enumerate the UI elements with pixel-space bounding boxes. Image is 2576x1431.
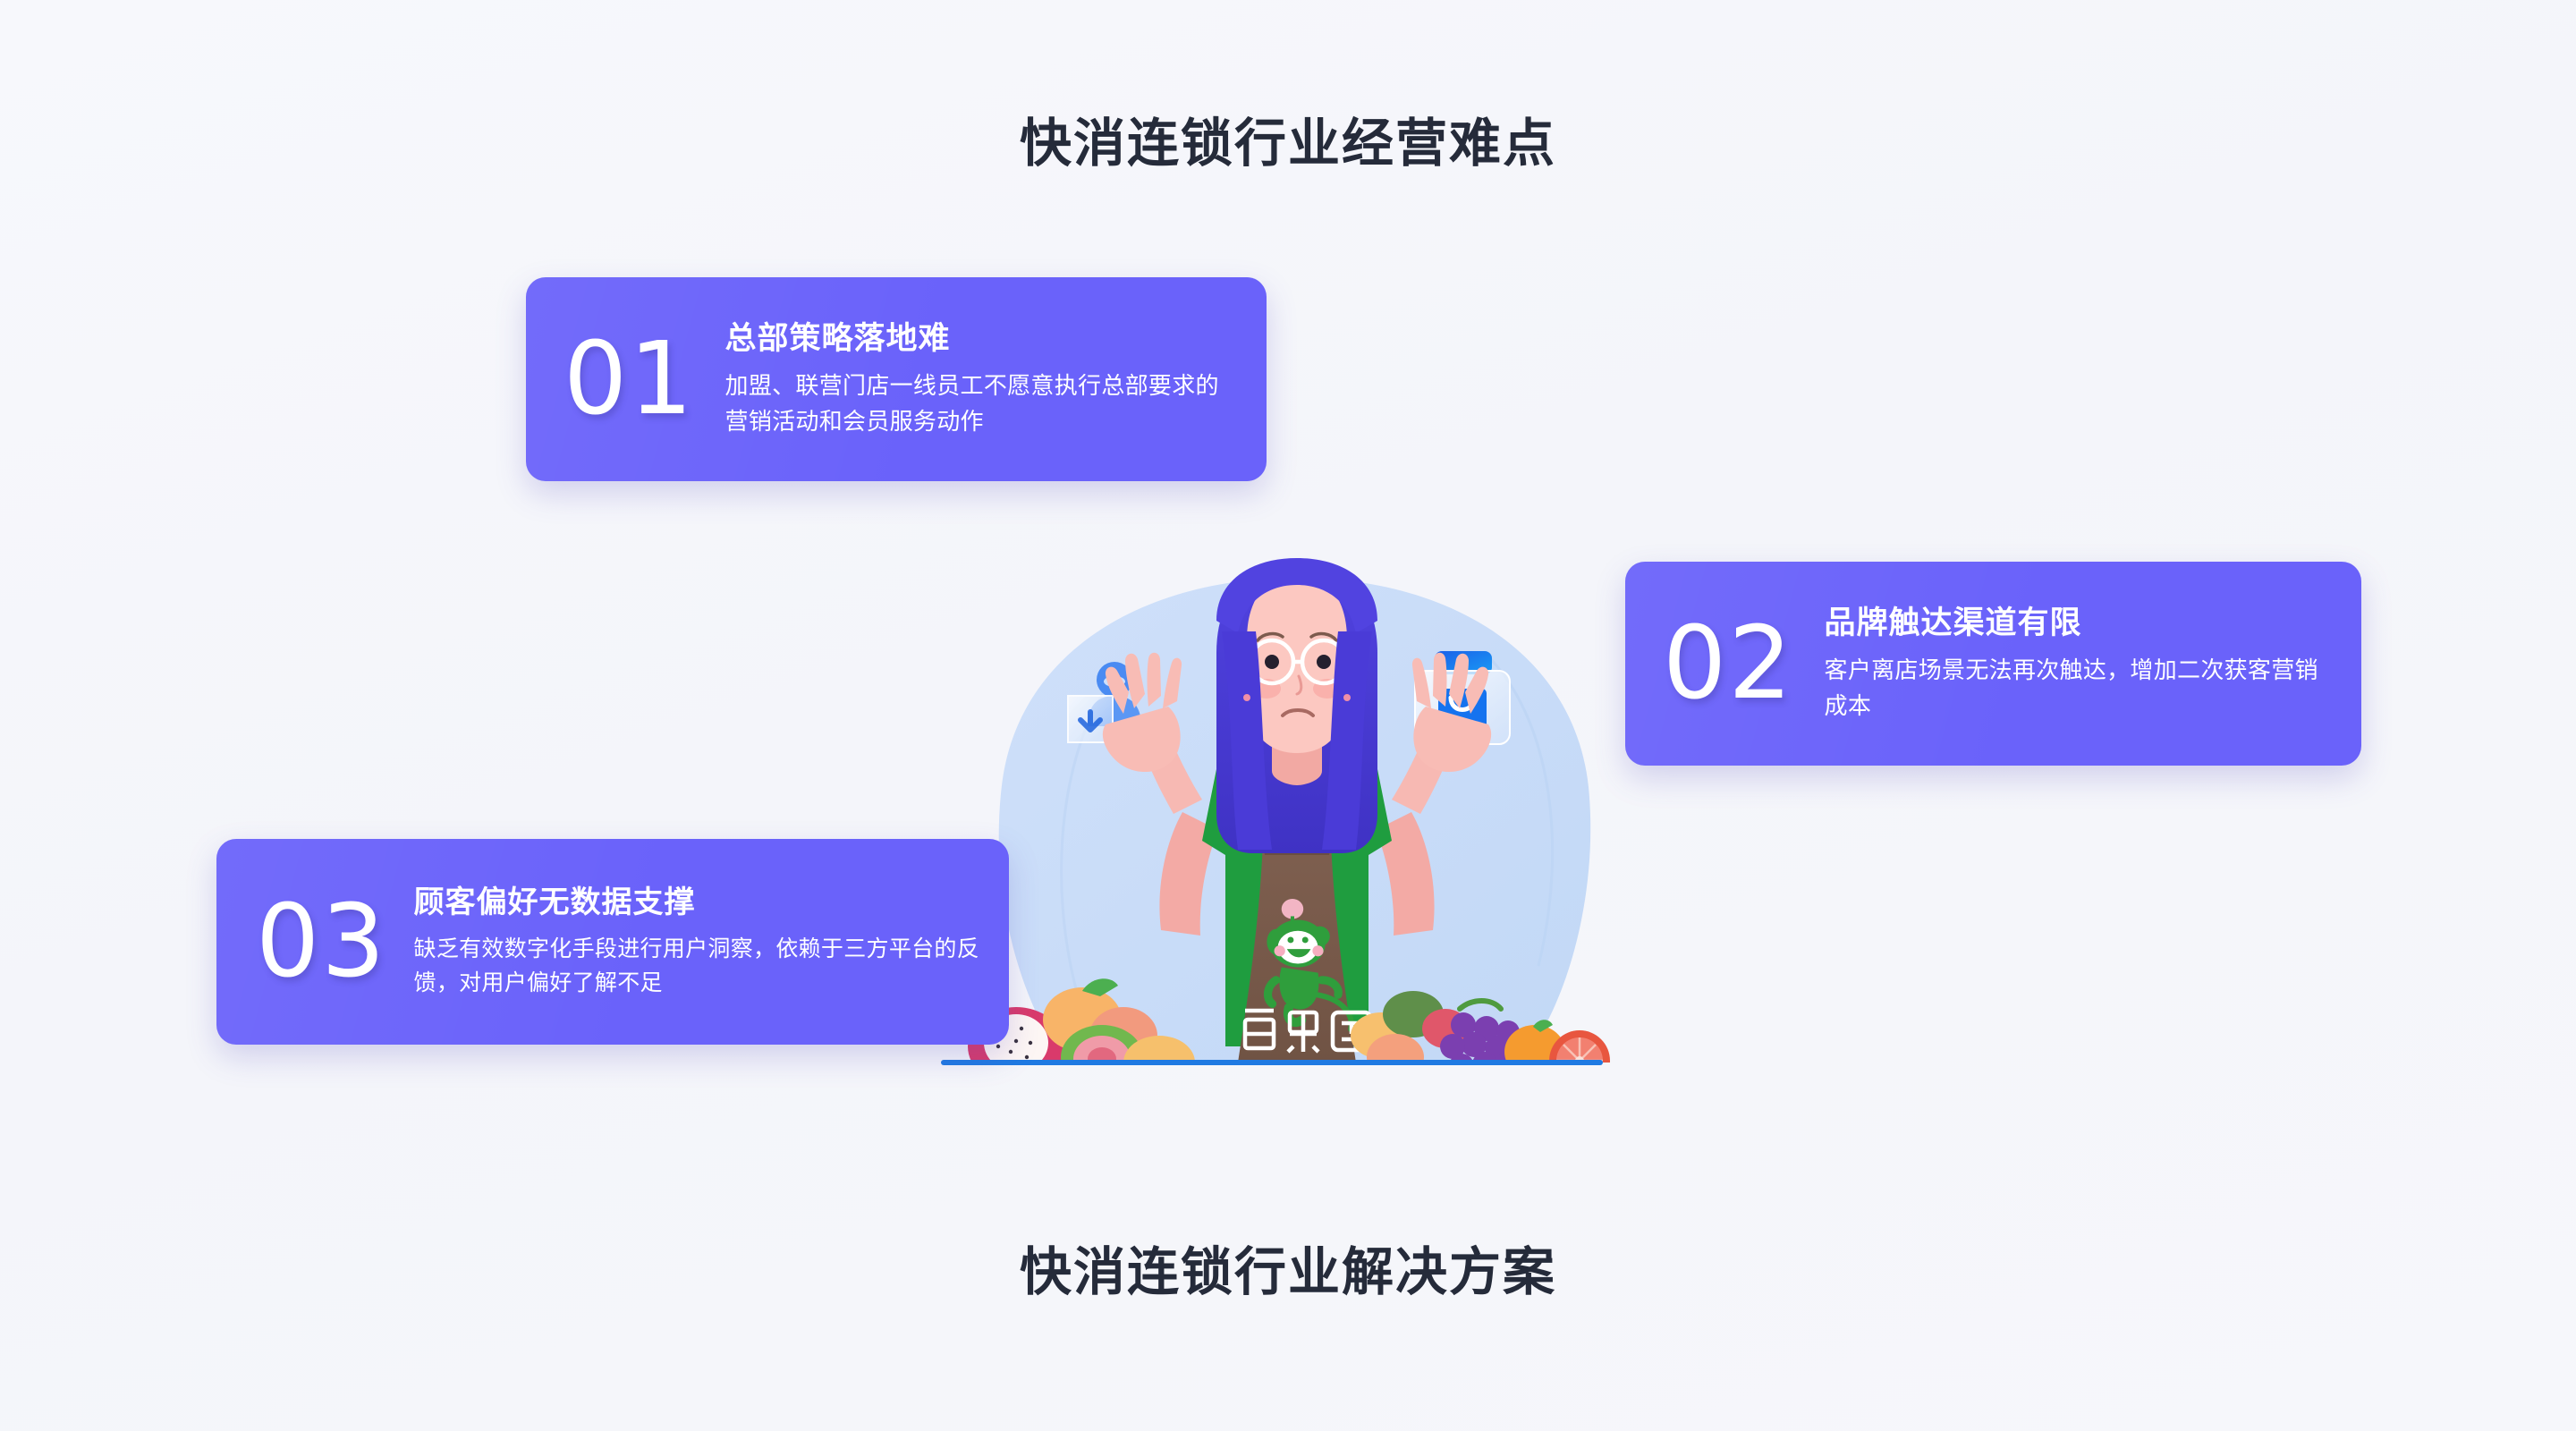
pain-point-card-03[interactable]: 03 顾客偏好无数据支撑 缺乏有效数字化手段进行用户洞察，依赖于三方平台的反馈，…	[216, 839, 1009, 1045]
pain-point-description: 客户离店场景无法再次触达，增加二次获客营销成本	[1825, 653, 2331, 724]
pain-point-card-01[interactable]: 01 总部策略落地难 加盟、联营门店一线员工不愿意执行总部要求的营销活动和会员服…	[526, 277, 1267, 481]
ground-line	[941, 1060, 1603, 1065]
infographic-canvas: 快消连锁行业经营难点	[0, 0, 2576, 1431]
pain-point-body: 总部策略落地难 加盟、联营门店一线员工不愿意执行总部要求的营销活动和会员服务动作	[725, 319, 1236, 440]
pain-point-number: 01	[563, 329, 695, 429]
pain-point-card-02[interactable]: 02 品牌触达渠道有限 客户离店场景无法再次触达，增加二次获客营销成本	[1625, 562, 2361, 766]
pain-point-number: 02	[1663, 614, 1794, 714]
pain-point-body: 顾客偏好无数据支撑 缺乏有效数字化手段进行用户洞察，依赖于三方平台的反馈，对用户…	[414, 884, 980, 1001]
pain-point-title: 总部策略落地难	[725, 319, 1236, 359]
pain-point-description: 加盟、联营门店一线员工不愿意执行总部要求的营销活动和会员服务动作	[725, 368, 1236, 439]
clerk-head	[1216, 558, 1377, 853]
pain-point-description: 缺乏有效数字化手段进行用户洞察，依赖于三方平台的反馈，对用户偏好了解不足	[414, 932, 980, 1000]
store-clerk-illustration	[948, 546, 1646, 1082]
pain-point-title: 顾客偏好无数据支撑	[414, 884, 980, 922]
page-title-bottom: 快消连锁行业解决方案	[0, 1241, 2576, 1304]
pain-point-title: 品牌触达渠道有限	[1825, 604, 2331, 643]
pain-point-number: 03	[256, 892, 387, 992]
pain-point-body: 品牌触达渠道有限 客户离店场景无法再次触达，增加二次获客营销成本	[1825, 604, 2331, 724]
page-title-top: 快消连锁行业经营难点	[0, 113, 2576, 175]
